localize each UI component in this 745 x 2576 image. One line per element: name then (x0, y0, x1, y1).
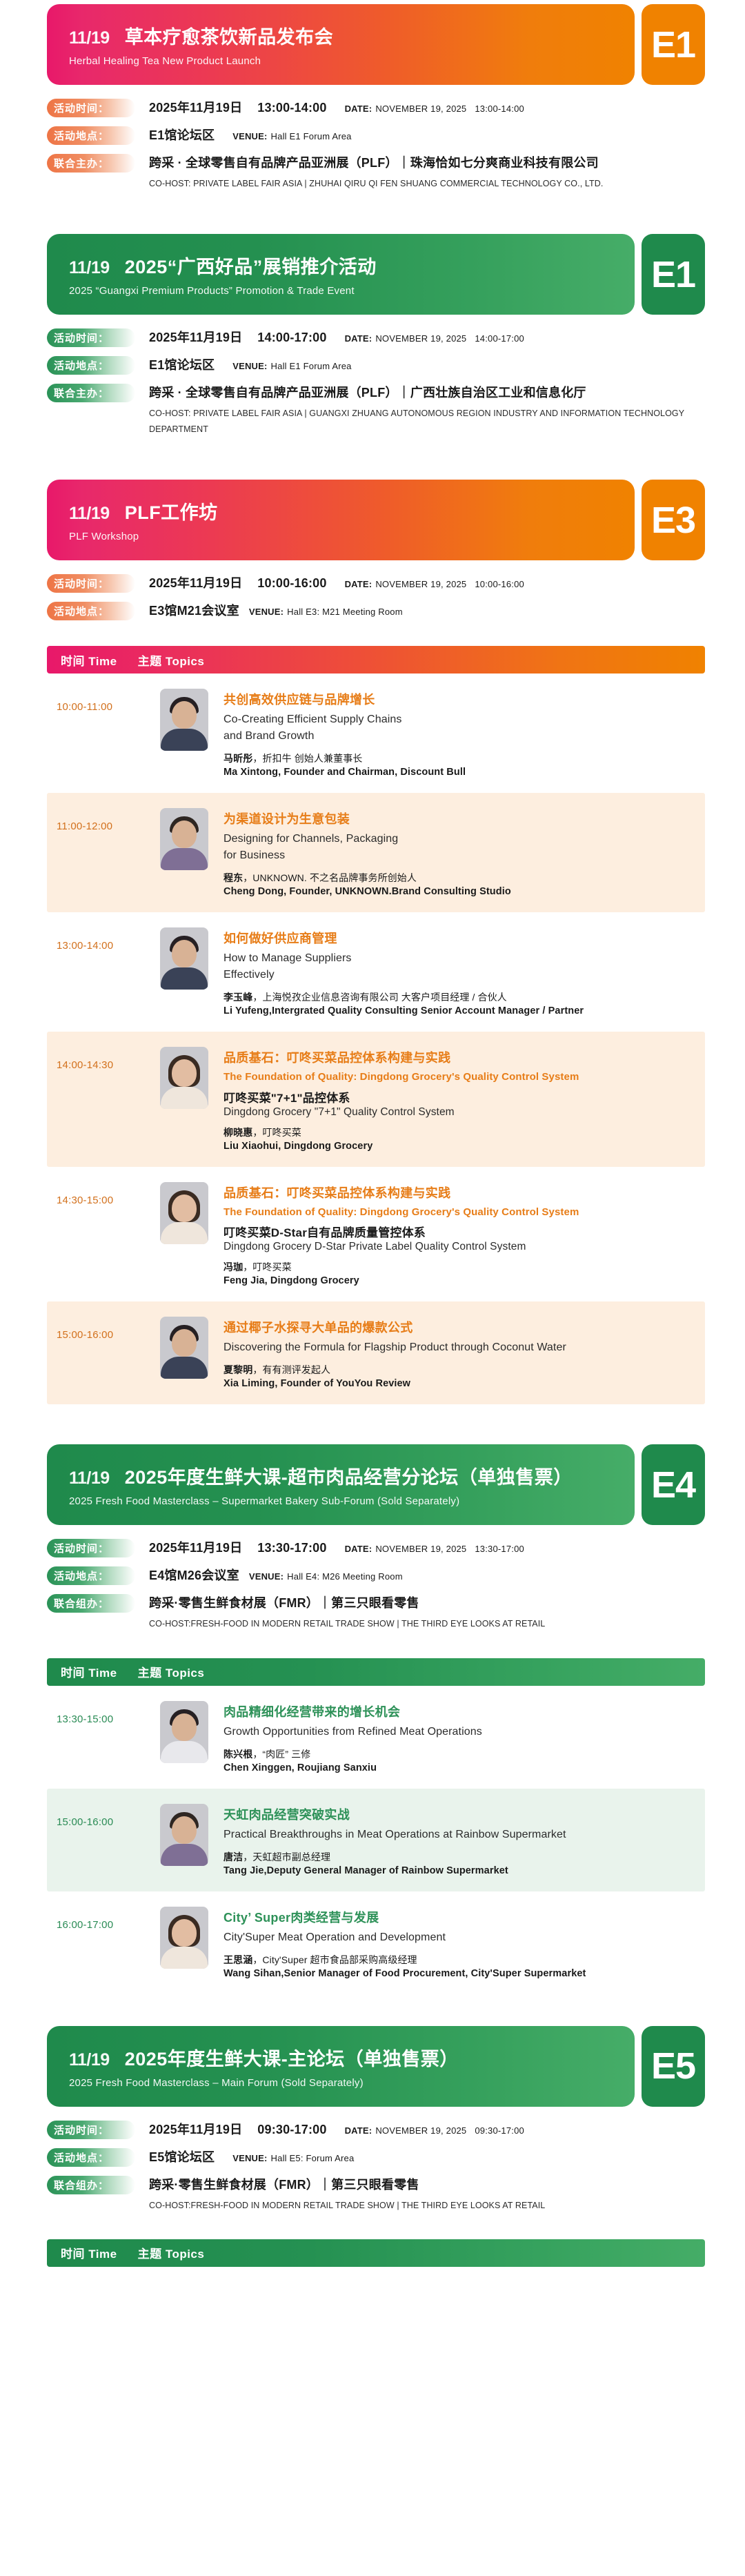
time-label: 活动时间： (47, 574, 135, 593)
topic-title-en: How to Manage Suppliers Effectively (223, 950, 695, 983)
venue-en-label: VENUE: (232, 2153, 267, 2163)
venue-en: Hall E1 Forum Area (271, 361, 352, 371)
event-time-range: 10:00-16:00 (257, 576, 326, 591)
venue-en: Hall E5: Forum Area (271, 2153, 355, 2163)
topic-title-en: The Foundation of Quality: Dingdong Groc… (223, 1205, 695, 1221)
hall-badge: E5 (642, 2026, 705, 2107)
event-details: 活动时间： 2025年11月19日 14:00-17:00 DATE: NOVE… (0, 315, 745, 448)
event-date: 11/19 (69, 504, 110, 524)
speaker-name: 马昕彤 (223, 753, 252, 764)
topic-subtitle-en: Dingdong Grocery D-Star Private Label Qu… (223, 1241, 695, 1253)
date-en-label: DATE: (345, 579, 372, 589)
speaker-title-cn: ，“肉匠” 三修 (252, 1749, 310, 1760)
speaker-avatar (160, 808, 208, 870)
speaker-name: 李玉峰 (223, 992, 252, 1003)
speaker-title-cn: ，UNKNOWN. 不之名品牌事务所创始人 (243, 872, 417, 883)
venue-label: 活动地点： (47, 2148, 135, 2167)
event-banner: 11/19 2025“广西好品”展销推介活动 2025 “Guangxi Pre… (47, 234, 635, 315)
detail-row-coorganizer: 联合组办： 跨采·零售生鲜食材展（FMR）｜第三只眼看零售 CO-HOST:FR… (47, 2174, 705, 2214)
cohost-cn: 跨采 · 全球零售自有品牌产品亚洲展（PLF）｜珠海恰如七分爽商业科技有限公司 (149, 153, 599, 171)
row-time: 14:30-15:00 (57, 1182, 160, 1206)
row-time: 10:00-11:00 (57, 689, 160, 713)
event-time-range: 09:30-17:00 (257, 2123, 326, 2137)
speaker-avatar (160, 689, 208, 751)
detail-row-time: 活动时间： 2025年11月19日 13:00-14:00 DATE: NOVE… (47, 97, 705, 117)
event-title-cn: PLF工作坊 (125, 498, 218, 524)
col-topic-label: 主题 Topics (138, 2244, 205, 2261)
detail-row-venue: 活动地点： E5馆论坛区 VENUE: Hall E5: Forum Area (47, 2147, 705, 2167)
speaker-name-en: Cheng Dong, Founder, UNKNOWN.Brand Consu… (223, 886, 695, 897)
event-date: 11/19 (69, 28, 110, 48)
event-banner: 11/19 2025年度生鲜大课-主论坛（单独售票） 2025 Fresh Fo… (47, 2026, 635, 2107)
venue-label: 活动地点： (47, 1566, 135, 1585)
time-label: 活动时间： (47, 1539, 135, 1557)
event-title-cn: 2025年度生鲜大课-主论坛（单独售票） (125, 2044, 459, 2071)
speaker-name-en: Li Yufeng,Intergrated Quality Consulting… (223, 1005, 695, 1016)
venue-cn: E5馆论坛区 (149, 2147, 215, 2165)
event-card-main-forum: 11/19 2025年度生鲜大课-主论坛（单独售票） 2025 Fresh Fo… (0, 2026, 745, 2267)
col-topic-label: 主题 Topics (138, 651, 205, 669)
topic-title-cn: 如何做好供应商管理 (223, 929, 695, 947)
speaker-name-cn: 马昕彤，折扣牛 创始人兼董事长 (223, 751, 695, 765)
speaker-name-en: Chen Xinggen, Roujiang Sanxiu (223, 1762, 695, 1773)
event-date-cn: 2025年11月19日 (149, 328, 242, 346)
detail-row-venue: 活动地点： E1馆论坛区 VENUE: Hall E1 Forum Area (47, 355, 705, 375)
event-details: 活动时间： 2025年11月19日 13:00-14:00 DATE: NOVE… (0, 85, 745, 202)
event-header: 11/19 2025年度生鲜大课-超市肉品经营分论坛（单独售票） 2025 Fr… (0, 1444, 745, 1525)
detail-row-venue: 活动地点： E1馆论坛区 VENUE: Hall E1 Forum Area (47, 125, 705, 145)
detail-row-time: 活动时间： 2025年11月19日 10:00-16:00 DATE: NOVE… (47, 573, 705, 593)
event-card-meat-subforum: 11/19 2025年度生鲜大课-超市肉品经营分论坛（单独售票） 2025 Fr… (0, 1444, 745, 1994)
speaker-title-cn: ，City'Super 超市食品部采购高级经理 (252, 1954, 417, 1965)
event-date: 11/19 (69, 258, 110, 278)
venue-label: 活动地点： (47, 356, 135, 375)
event-time-range: 13:30-17:00 (257, 1541, 326, 1555)
topic-title-cn: City’ Super肉类经营与发展 (223, 1908, 695, 1926)
coorganizer-cn: 跨采·零售生鲜食材展（FMR）｜第三只眼看零售 (149, 1593, 419, 1611)
event-date-en: NOVEMBER 19, 2025 (375, 333, 466, 344)
event-banner: 11/19 草本疗愈茶饮新品发布会 Herbal Healing Tea New… (47, 4, 635, 85)
speaker-avatar (160, 927, 208, 990)
event-details: 活动时间： 2025年11月19日 10:00-16:00 DATE: NOVE… (0, 560, 745, 631)
venue-cn: E4馆M26会议室 (149, 1566, 239, 1584)
event-header: 11/19 草本疗愈茶饮新品发布会 Herbal Healing Tea New… (0, 4, 745, 85)
venue-cn: E1馆论坛区 (149, 355, 215, 373)
event-date-cn: 2025年11月19日 (149, 2120, 242, 2138)
speaker-name-en: Wang Sihan,Senior Manager of Food Procur… (223, 1968, 695, 1979)
schedule-table-e4: 时间 Time 主题 Topics 13:30-15:00 肉品精细化经营带来的… (0, 1658, 745, 1994)
coorganizer-label: 联合组办： (47, 1594, 135, 1613)
row-time: 11:00-12:00 (57, 808, 160, 832)
event-date-en: NOVEMBER 19, 2025 (375, 104, 466, 114)
event-date-en: NOVEMBER 19, 2025 (375, 2125, 466, 2136)
event-date-en: NOVEMBER 19, 2025 (375, 579, 466, 589)
agenda-page: 11/19 草本疗愈茶饮新品发布会 Herbal Healing Tea New… (0, 4, 745, 2267)
cohost-en: CO-HOST: PRIVATE LABEL FAIR ASIA | ZHUHA… (149, 176, 705, 192)
event-time-range-en: 14:00-17:00 (475, 333, 524, 344)
topic-title-cn: 肉品精细化经营带来的增长机会 (223, 1702, 695, 1720)
col-time-label: 时间 Time (61, 651, 117, 669)
col-time-label: 时间 Time (61, 1663, 117, 1680)
event-header: 11/19 PLF工作坊 PLF Workshop E3 (0, 480, 745, 560)
speaker-name-cn: 夏黎明，有有测评发起人 (223, 1363, 695, 1377)
topic-subtitle-en: Dingdong Grocery "7+1" Quality Control S… (223, 1106, 695, 1119)
time-label: 活动时间： (47, 99, 135, 117)
event-details: 活动时间： 2025年11月19日 13:30-17:00 DATE: NOVE… (0, 1525, 745, 1642)
venue-en: Hall E1 Forum Area (271, 131, 352, 141)
table-row[interactable]: 15:00-16:00 天虹肉品经营突破实战 Practical Breakth… (47, 1789, 705, 1891)
speaker-title-cn: ，有有测评发起人 (252, 1364, 330, 1375)
date-en-label: DATE: (345, 104, 372, 114)
detail-row-venue: 活动地点： E3馆M21会议室 VENUE: Hall E3: M21 Meet… (47, 600, 705, 620)
speaker-name-en: Tang Jie,Deputy General Manager of Rainb… (223, 1865, 695, 1876)
venue-en-label: VENUE: (249, 1571, 284, 1582)
detail-row-venue: 活动地点： E4馆M26会议室 VENUE: Hall E4: M26 Meet… (47, 1565, 705, 1585)
cohost-label: 联合主办： (47, 154, 135, 173)
topic-title-en: Growth Opportunities from Refined Meat O… (223, 1724, 695, 1740)
speaker-name: 程东 (223, 872, 243, 883)
event-card-guangxi: 11/19 2025“广西好品”展销推介活动 2025 “Guangxi Pre… (0, 234, 745, 448)
topic-title-en: Discovering the Formula for Flagship Pro… (223, 1339, 695, 1356)
event-time-range-en: 10:00-16:00 (475, 579, 524, 589)
row-time: 15:00-16:00 (57, 1317, 160, 1341)
detail-row-cohost: 联合主办： 跨采 · 全球零售自有品牌产品亚洲展（PLF）｜珠海恰如七分爽商业科… (47, 153, 705, 192)
event-title-en: 2025 Fresh Food Masterclass – Supermarke… (69, 1495, 611, 1507)
speaker-name-cn: 李玉峰，上海悦孜企业信息咨询有限公司 大客户项目经理 / 合伙人 (223, 990, 695, 1004)
event-time-range-en: 09:30-17:00 (475, 2125, 524, 2136)
speaker-title-cn: ，上海悦孜企业信息咨询有限公司 大客户项目经理 / 合伙人 (252, 992, 506, 1003)
time-label: 活动时间： (47, 2121, 135, 2139)
time-label: 活动时间： (47, 328, 135, 347)
topic-title-en: Practical Breakthroughs in Meat Operatio… (223, 1827, 695, 1843)
venue-cn: E1馆论坛区 (149, 126, 215, 144)
speaker-name: 王思涵 (223, 1954, 252, 1965)
date-en-label: DATE: (345, 2125, 372, 2136)
topic-title-en: Designing for Channels, Packaging for Bu… (223, 831, 695, 864)
hall-badge: E4 (642, 1444, 705, 1525)
event-time-range: 13:00-14:00 (257, 101, 326, 115)
date-en-label: DATE: (345, 1544, 372, 1554)
table-row[interactable]: 16:00-17:00 City’ Super肉类经营与发展 City'Supe… (47, 1891, 705, 1994)
coorganizer-label: 联合组办： (47, 2176, 135, 2194)
topic-title-cn: 品质基石：叮咚买菜品控体系构建与实践 (223, 1048, 695, 1066)
event-time-range: 14:00-17:00 (257, 331, 326, 345)
topic-subtitle-cn: 叮咚买菜D-Star自有品牌质量管控体系 (223, 1223, 695, 1240)
table-row[interactable]: 10:00-11:00 共创高效供应链与品牌增长 Co-Creating Eff… (47, 674, 705, 793)
table-row[interactable]: 15:00-16:00 通过椰子水探寻大单品的爆款公式 Discovering … (47, 1301, 705, 1404)
topic-title-cn: 共创高效供应链与品牌增长 (223, 690, 695, 708)
event-title-cn: 2025年度生鲜大课-超市肉品经营分论坛（单独售票） (125, 1462, 573, 1489)
event-date-cn: 2025年11月19日 (149, 573, 242, 591)
coorganizer-cn: 跨采·零售生鲜食材展（FMR）｜第三只眼看零售 (149, 2175, 419, 2193)
speaker-name: 陈兴根 (223, 1749, 252, 1760)
row-time: 15:00-16:00 (57, 1804, 160, 1828)
schedule-table-plf: 时间 Time 主题 Topics 10:00-11:00 共创高效供应链与品牌… (0, 646, 745, 1404)
schedule-header: 时间 Time 主题 Topics (47, 1658, 705, 1686)
speaker-name-en: Liu Xiaohui, Dingdong Grocery (223, 1141, 695, 1152)
venue-label: 活动地点： (47, 602, 135, 620)
event-time-range-en: 13:00-14:00 (475, 104, 524, 114)
event-date-cn: 2025年11月19日 (149, 1538, 242, 1556)
speaker-title-cn: ，折扣牛 创始人兼董事长 (252, 753, 362, 764)
speaker-name-en: Feng Jia, Dingdong Grocery (223, 1275, 695, 1286)
event-title-cn: 2025“广西好品”展销推介活动 (125, 252, 377, 279)
event-details: 活动时间： 2025年11月19日 09:30-17:00 DATE: NOVE… (0, 2107, 745, 2224)
event-card-plf-workshop: 11/19 PLF工作坊 PLF Workshop E3 活动时间： 2025年… (0, 480, 745, 1404)
speaker-avatar (160, 1047, 208, 1109)
speaker-avatar (160, 1701, 208, 1763)
col-topic-label: 主题 Topics (138, 1663, 205, 1680)
event-header: 11/19 2025年度生鲜大课-主论坛（单独售票） 2025 Fresh Fo… (0, 2026, 745, 2107)
event-time-range-en: 13:30-17:00 (475, 1544, 524, 1554)
speaker-name: 冯珈 (223, 1261, 243, 1272)
event-title-en: Herbal Healing Tea New Product Launch (69, 55, 611, 67)
event-date: 11/19 (69, 2050, 110, 2070)
schedule-header: 时间 Time 主题 Topics (47, 646, 705, 674)
speaker-avatar (160, 1317, 208, 1379)
cohost-cn: 跨采 · 全球零售自有品牌产品亚洲展（PLF）｜广西壮族自治区工业和信息化厅 (149, 383, 586, 401)
table-row[interactable]: 14:00-14:30 品质基石：叮咚买菜品控体系构建与实践 The Found… (47, 1032, 705, 1167)
detail-row-coorganizer: 联合组办： 跨采·零售生鲜食材展（FMR）｜第三只眼看零售 CO-HOST:FR… (47, 1593, 705, 1632)
event-card-herbal-tea: 11/19 草本疗愈茶饮新品发布会 Herbal Healing Tea New… (0, 4, 745, 202)
schedule-table-e5: 时间 Time 主题 Topics (0, 2239, 745, 2267)
row-time: 14:00-14:30 (57, 1047, 160, 1071)
detail-row-time: 活动时间： 2025年11月19日 14:00-17:00 DATE: NOVE… (47, 327, 705, 347)
topic-title-en: Co-Creating Efficient Supply Chains and … (223, 711, 695, 745)
row-time: 13:00-14:00 (57, 927, 160, 952)
event-banner: 11/19 PLF工作坊 PLF Workshop (47, 480, 635, 560)
topic-title-cn: 品质基石：叮咚买菜品控体系构建与实践 (223, 1183, 695, 1201)
speaker-name-en: Xia Liming, Founder of YouYou Review (223, 1378, 695, 1389)
event-title-en: PLF Workshop (69, 531, 611, 542)
event-header: 11/19 2025“广西好品”展销推介活动 2025 “Guangxi Pre… (0, 234, 745, 315)
speaker-name-cn: 柳晓惠，叮咚买菜 (223, 1125, 695, 1139)
event-date-cn: 2025年11月19日 (149, 98, 242, 116)
cohost-label: 联合主办： (47, 384, 135, 402)
speaker-name-cn: 唐洁，天虹超市副总经理 (223, 1850, 695, 1864)
event-title-en: 2025 “Guangxi Premium Products” Promotio… (69, 285, 611, 297)
topic-title-cn: 天虹肉品经营突破实战 (223, 1805, 695, 1823)
coorganizer-en: CO-HOST:FRESH-FOOD IN MODERN RETAIL TRAD… (149, 2198, 705, 2214)
topic-title-en: The Foundation of Quality: Dingdong Groc… (223, 1070, 695, 1085)
venue-en-label: VENUE: (249, 607, 284, 617)
speaker-name-cn: 王思涵，City'Super 超市食品部采购高级经理 (223, 1953, 695, 1967)
table-row[interactable]: 13:00-14:00 如何做好供应商管理 How to Manage Supp… (47, 912, 705, 1032)
venue-en-label: VENUE: (232, 361, 267, 371)
topic-subtitle-cn: 叮咚买菜"7+1"品控体系 (223, 1088, 695, 1105)
speaker-name: 柳晓惠 (223, 1127, 252, 1138)
detail-row-time: 活动时间： 2025年11月19日 13:30-17:00 DATE: NOVE… (47, 1537, 705, 1557)
speaker-name: 唐洁 (223, 1851, 243, 1862)
topic-title-cn: 通过椰子水探寻大单品的爆款公式 (223, 1318, 695, 1336)
topic-title-cn: 为渠道设计为生意包装 (223, 809, 695, 827)
event-banner: 11/19 2025年度生鲜大课-超市肉品经营分论坛（单独售票） 2025 Fr… (47, 1444, 635, 1525)
speaker-name-cn: 程东，UNKNOWN. 不之名品牌事务所创始人 (223, 871, 695, 885)
speaker-title-cn: ，叮咚买菜 (252, 1127, 301, 1138)
coorganizer-en: CO-HOST:FRESH-FOOD IN MODERN RETAIL TRAD… (149, 1616, 705, 1632)
detail-row-time: 活动时间： 2025年11月19日 09:30-17:00 DATE: NOVE… (47, 2119, 705, 2139)
speaker-title-cn: ，叮咚买菜 (243, 1261, 292, 1272)
hall-badge: E1 (642, 4, 705, 85)
date-en-label: DATE: (345, 333, 372, 344)
speaker-avatar (160, 1804, 208, 1866)
venue-label: 活动地点： (47, 126, 135, 145)
venue-en: Hall E3: M21 Meeting Room (287, 607, 403, 617)
hall-badge: E3 (642, 480, 705, 560)
table-row[interactable]: 14:30-15:00 品质基石：叮咚买菜品控体系构建与实践 The Found… (47, 1167, 705, 1302)
event-title-cn: 草本疗愈茶饮新品发布会 (125, 22, 334, 49)
hall-badge: E1 (642, 234, 705, 315)
speaker-avatar (160, 1907, 208, 1969)
venue-cn: E3馆M21会议室 (149, 601, 239, 619)
detail-row-cohost: 联合主办： 跨采 · 全球零售自有品牌产品亚洲展（PLF）｜广西壮族自治区工业和… (47, 382, 705, 437)
speaker-name: 夏黎明 (223, 1364, 252, 1375)
speaker-name-cn: 陈兴根，“肉匠” 三修 (223, 1747, 695, 1761)
event-title-en: 2025 Fresh Food Masterclass – Main Forum… (69, 2077, 611, 2089)
col-time-label: 时间 Time (61, 2244, 117, 2261)
event-date: 11/19 (69, 1468, 110, 1488)
table-row[interactable]: 11:00-12:00 为渠道设计为生意包装 Designing for Cha… (47, 793, 705, 912)
table-row[interactable]: 13:30-15:00 肉品精细化经营带来的增长机会 Growth Opport… (47, 1686, 705, 1789)
speaker-name-en: Ma Xintong, Founder and Chairman, Discou… (223, 767, 695, 778)
schedule-header: 时间 Time 主题 Topics (47, 2239, 705, 2267)
cohost-en: CO-HOST: PRIVATE LABEL FAIR ASIA | GUANG… (149, 406, 705, 437)
row-time: 16:00-17:00 (57, 1907, 160, 1931)
topic-title-en: City'Super Meat Operation and Developmen… (223, 1929, 695, 1946)
speaker-avatar (160, 1182, 208, 1244)
row-time: 13:30-15:00 (57, 1701, 160, 1725)
venue-en: Hall E4: M26 Meeting Room (287, 1571, 403, 1582)
speaker-name-cn: 冯珈，叮咚买菜 (223, 1260, 695, 1274)
speaker-title-cn: ，天虹超市副总经理 (243, 1851, 330, 1862)
venue-en-label: VENUE: (232, 131, 267, 141)
event-date-en: NOVEMBER 19, 2025 (375, 1544, 466, 1554)
